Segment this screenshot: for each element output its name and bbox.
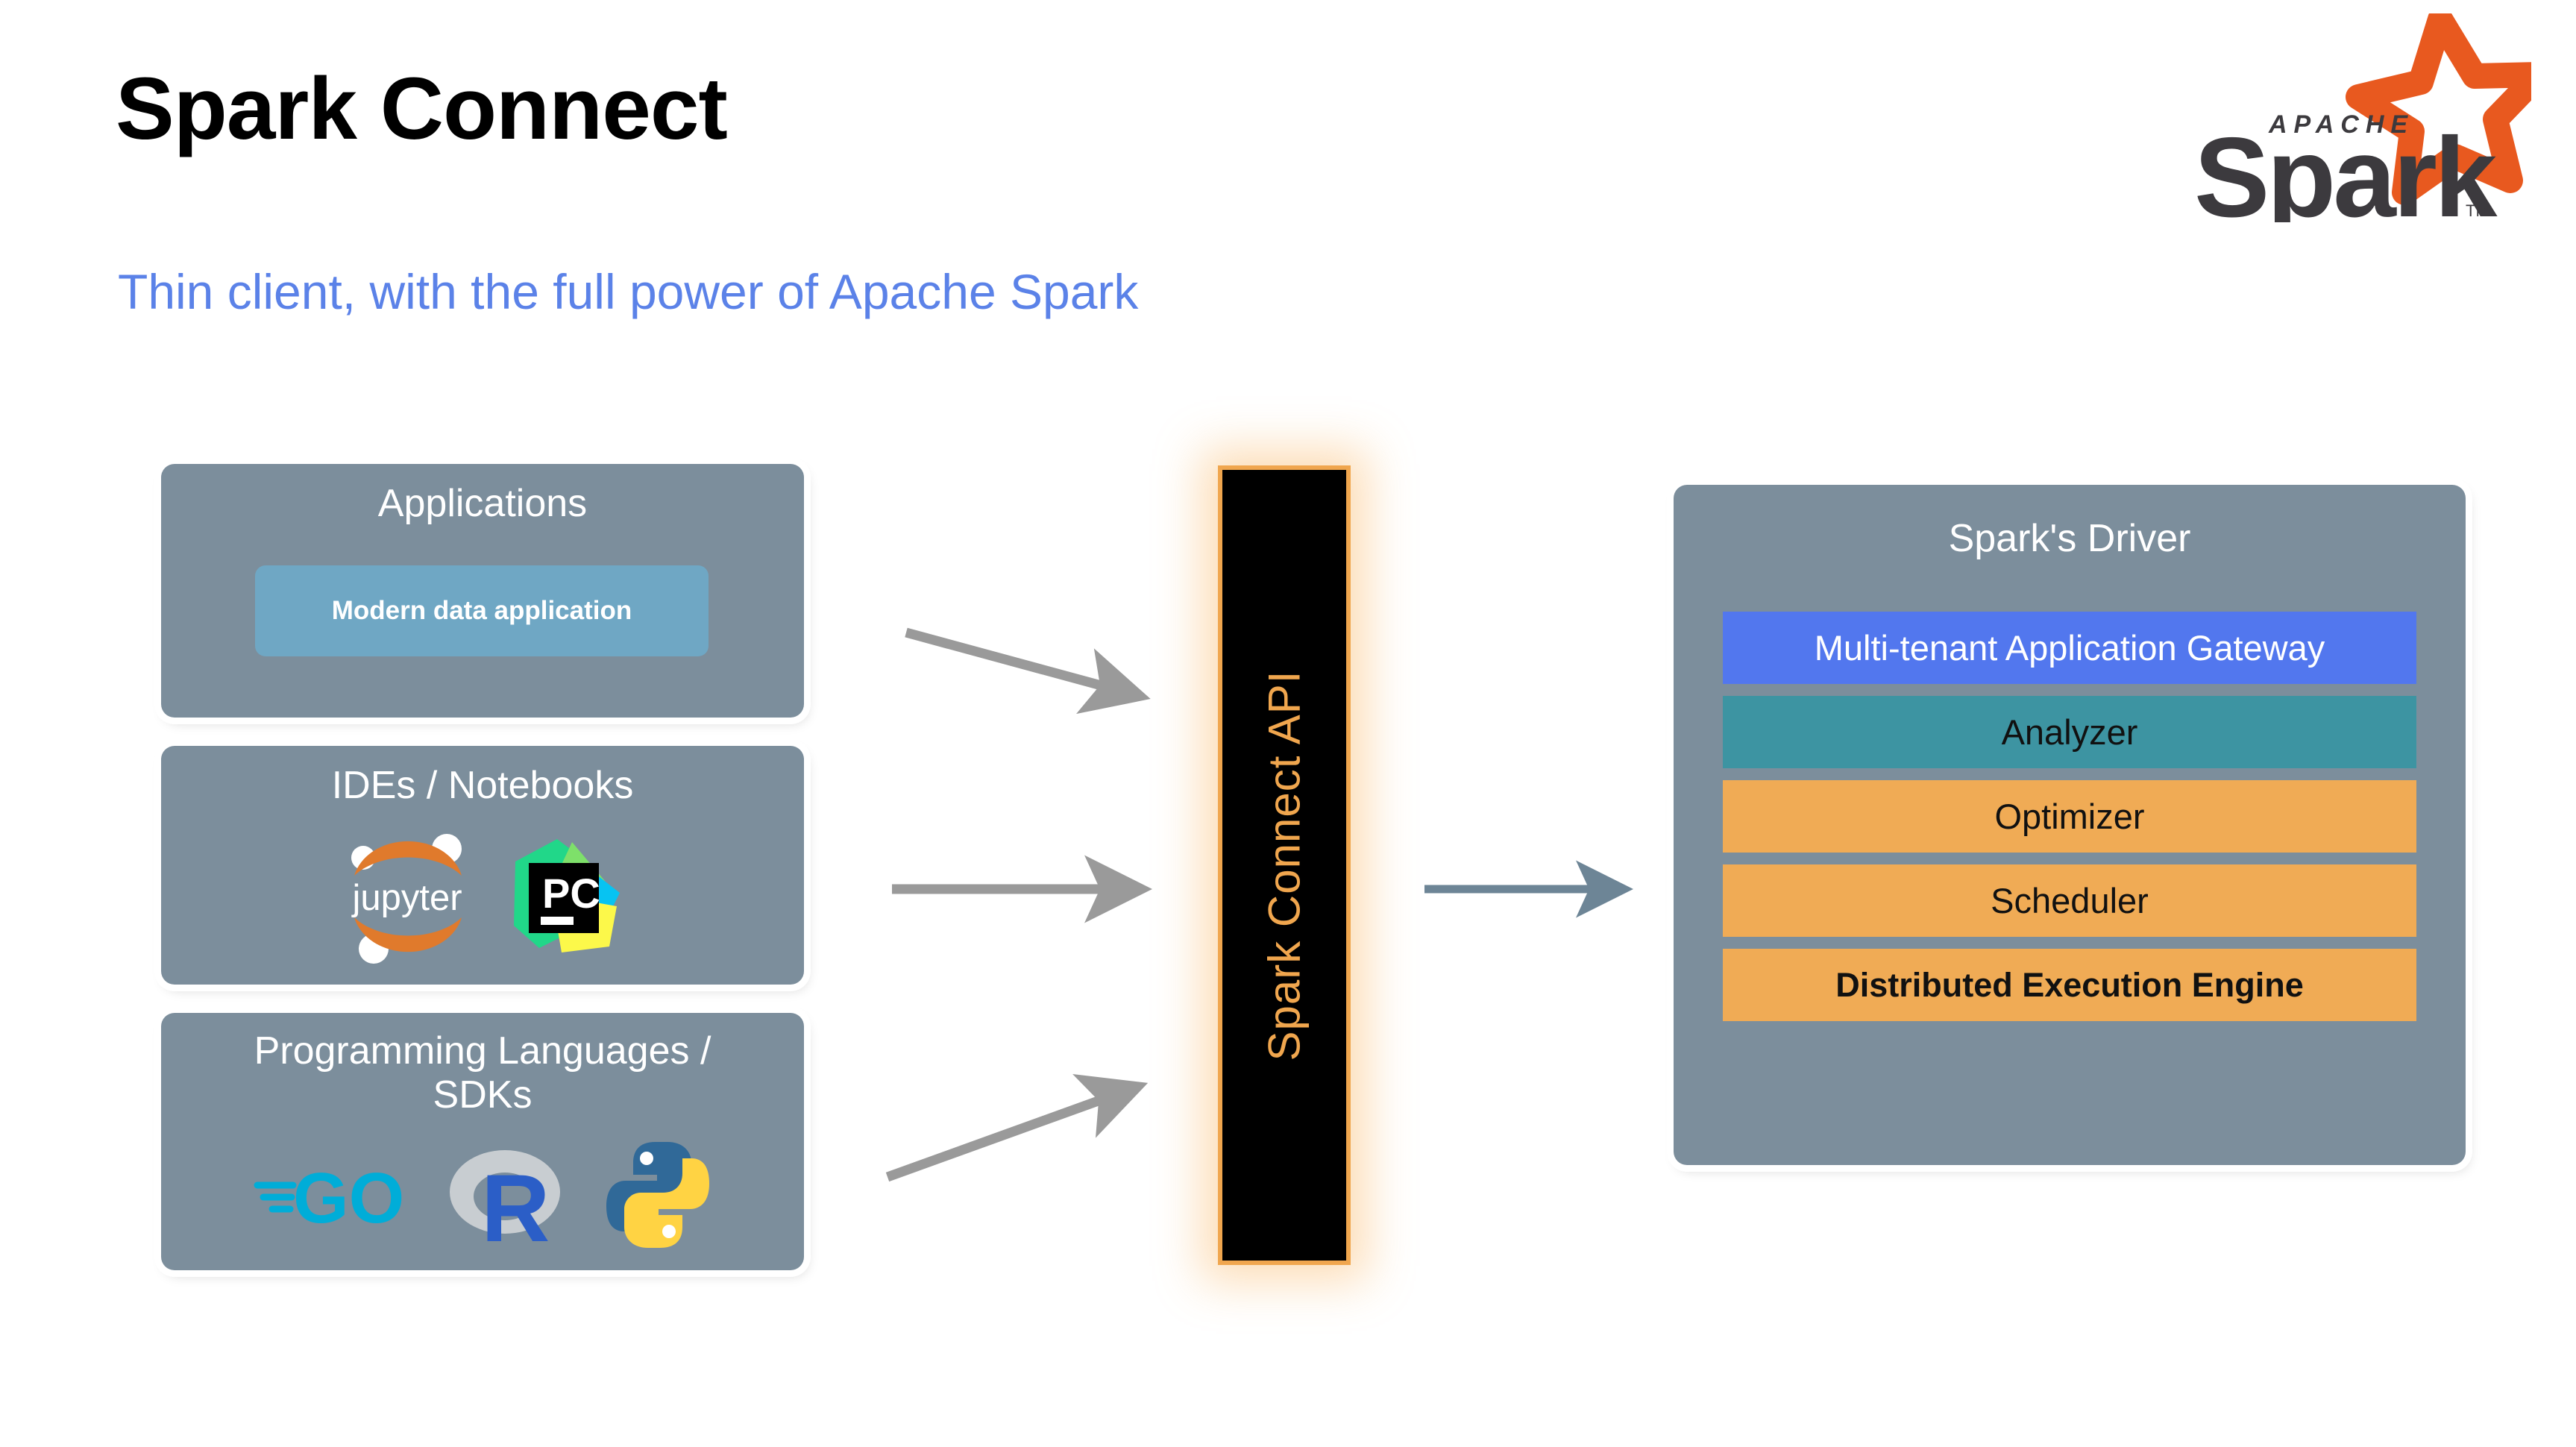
driver-layer-gateway: Multi-tenant Application Gateway bbox=[1723, 612, 2416, 684]
apache-spark-logo: APACHE Spark TM bbox=[2158, 13, 2531, 222]
spark-wordmark: Spark bbox=[2194, 114, 2498, 222]
client-card-applications: Applications Modern data application bbox=[161, 464, 804, 718]
driver-layer-distributed-execution-engine: Distributed Execution Engine bbox=[1723, 949, 2416, 1021]
language-logo-row: GO R bbox=[161, 1137, 804, 1257]
client-card-programming-languages: Programming Languages / SDKs GO R bbox=[161, 1013, 804, 1270]
r-letter: R bbox=[481, 1155, 550, 1253]
page-subtitle: Thin client, with the full power of Apac… bbox=[118, 265, 1138, 319]
ide-logo-row: jupyter PC bbox=[161, 829, 804, 967]
card-heading: Applications bbox=[161, 464, 804, 526]
driver-layer-analyzer: Analyzer bbox=[1723, 696, 2416, 768]
spark-driver-panel: Spark's Driver Multi-tenant Application … bbox=[1674, 485, 2466, 1165]
modern-data-application-label: Modern data application bbox=[332, 596, 632, 626]
svg-text:TM: TM bbox=[2466, 201, 2489, 220]
card-heading: IDEs / Notebooks bbox=[161, 746, 804, 808]
driver-layer-stack: Multi-tenant Application Gateway Analyze… bbox=[1723, 612, 2416, 1021]
card-heading-line-2: SDKs bbox=[161, 1073, 804, 1117]
svg-text:Spark: Spark bbox=[2194, 114, 2498, 222]
jupyter-wordmark: jupyter bbox=[351, 878, 462, 918]
python-logo bbox=[603, 1139, 712, 1255]
pycharm-pc-text: PC bbox=[542, 870, 600, 917]
client-card-ides-notebooks: IDEs / Notebooks jupyter PC bbox=[161, 746, 804, 985]
jupyter-logo: jupyter bbox=[338, 829, 477, 967]
modern-data-application-pill[interactable]: Modern data application bbox=[255, 565, 709, 656]
arrow-applications-to-connect bbox=[906, 633, 1104, 686]
pycharm-logo: PC bbox=[503, 835, 627, 962]
trademark-mark: TM bbox=[2466, 201, 2489, 220]
arrow-languages-to-connect bbox=[888, 1099, 1102, 1177]
card-heading-line-1: Programming Languages / bbox=[161, 1029, 804, 1073]
spark-connect-api-bar: Spark Connect API bbox=[1218, 465, 1351, 1265]
spark-connect-api-label: Spark Connect API bbox=[1259, 670, 1310, 1061]
page-title: Spark Connect bbox=[116, 63, 727, 156]
golang-logo: GO bbox=[253, 1154, 414, 1240]
r-language-logo: R bbox=[445, 1137, 572, 1257]
driver-layer-optimizer: Optimizer bbox=[1723, 780, 2416, 853]
spark-driver-title: Spark's Driver bbox=[1674, 485, 2466, 561]
go-wordmark: GO bbox=[293, 1158, 404, 1236]
driver-layer-scheduler: Scheduler bbox=[1723, 864, 2416, 937]
card-heading: Programming Languages / SDKs bbox=[161, 1013, 804, 1118]
